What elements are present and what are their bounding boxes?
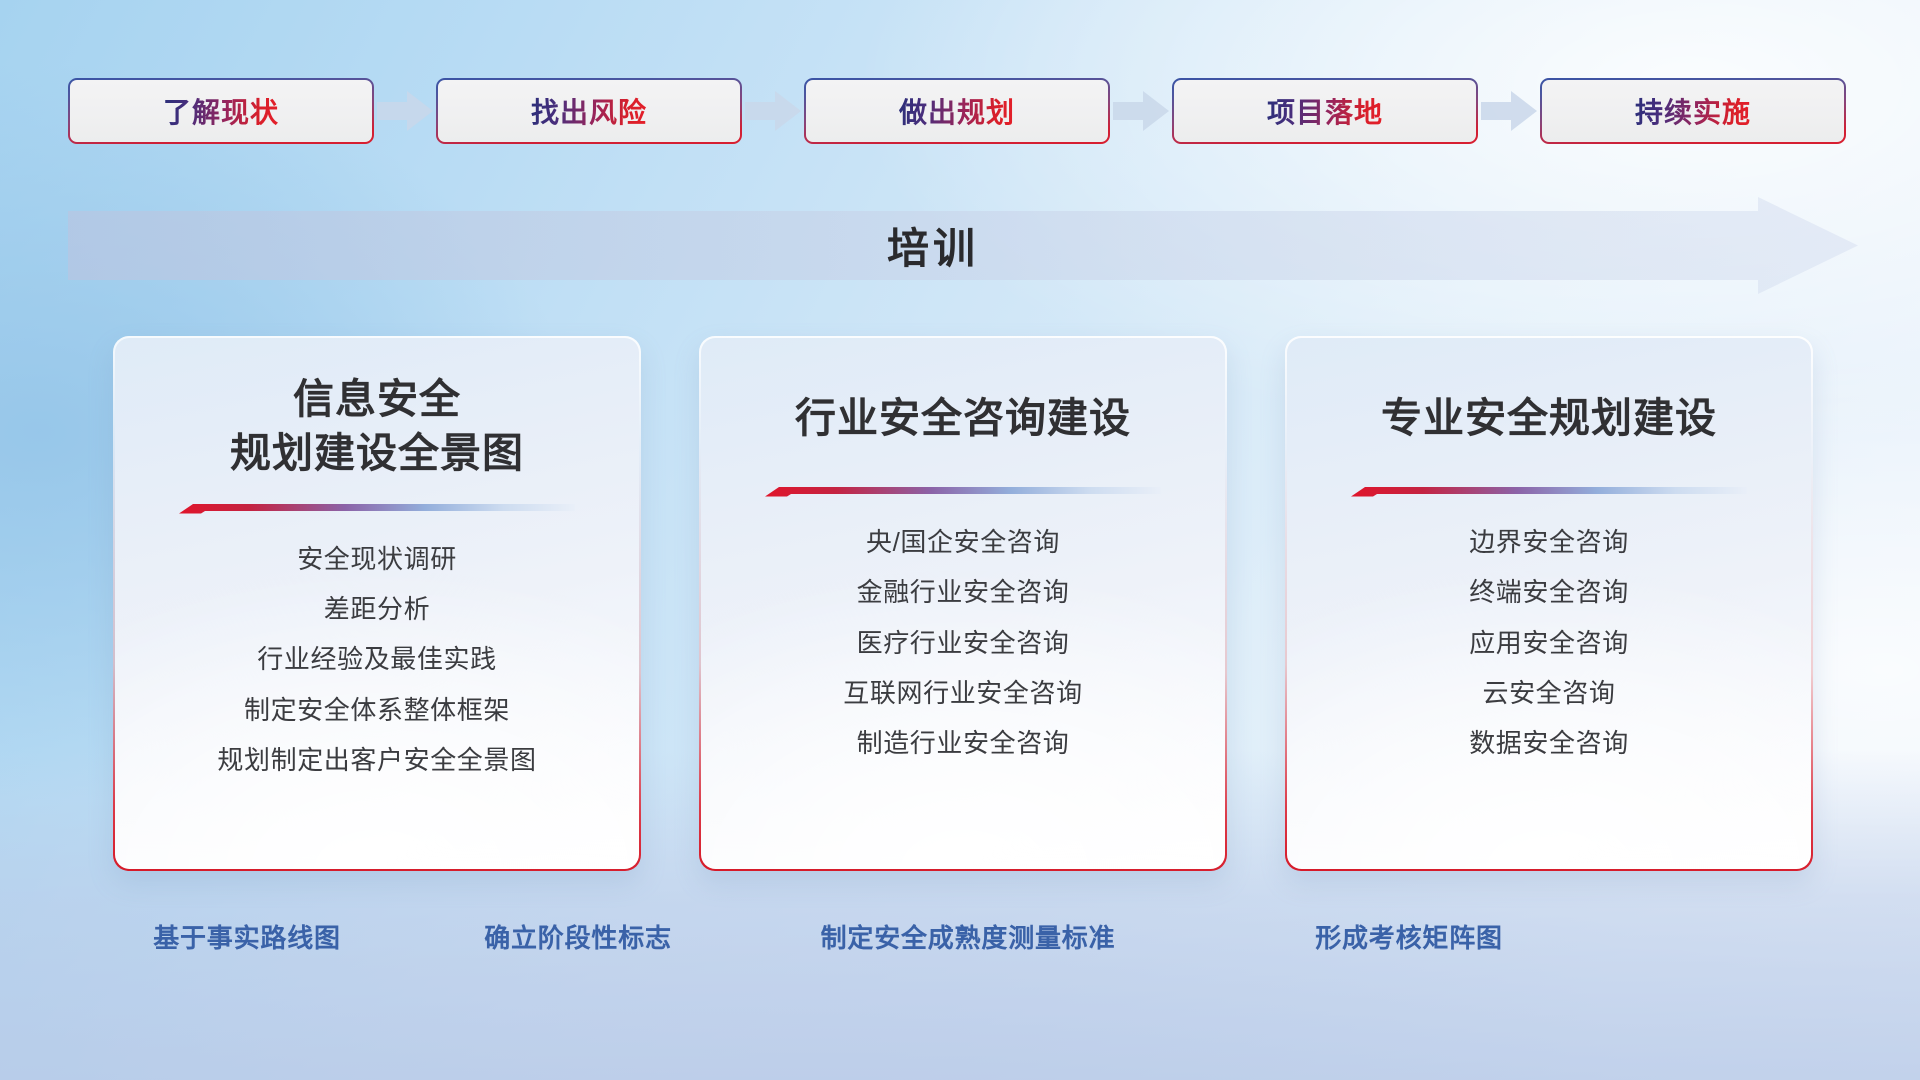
panel-2-list: 央/国企安全咨询 金融行业安全咨询 医疗行业安全咨询 互联网行业安全咨询 制造行… <box>701 522 1226 763</box>
arrow-right-icon-4 <box>1478 89 1540 133</box>
panel-2-body: 行业安全咨询建设 <box>701 338 1226 870</box>
process-steps: 了解现状 找出风险 做出规划 项目落地 持续实施 <box>68 78 1858 144</box>
list-item: 终端安全咨询 <box>1469 572 1629 612</box>
step-label-5: 持续实施 <box>1635 91 1751 131</box>
step-chip-3-inner: 做出规划 <box>806 80 1108 142</box>
panels-row: 信息安全 规划建设全景图 <box>113 336 1813 871</box>
panel-3-border: 专业安全规划建设 <box>1285 336 1813 871</box>
arrow-right-icon-2 <box>742 89 804 133</box>
list-item: 互联网行业安全咨询 <box>843 673 1082 713</box>
list-item: 安全现状调研 <box>297 539 457 579</box>
step-label-4: 项目落地 <box>1267 91 1383 131</box>
footnotes-row: 基于事实路线图 确立阶段性标志 制定安全成熟度测量标准 形成考核矩阵图 <box>0 918 1920 962</box>
panel-1-divider <box>179 503 575 514</box>
list-item: 央/国企安全咨询 <box>866 522 1060 562</box>
list-item: 规划制定出客户安全全景图 <box>217 740 536 780</box>
step-chip-1-inner: 了解现状 <box>70 80 372 142</box>
step-label-3: 做出规划 <box>899 91 1015 131</box>
panel-1-list: 安全现状调研 差距分析 行业经验及最佳实践 制定安全体系整体框架 规划制定出客户… <box>115 539 640 780</box>
panel-2[interactable]: 行业安全咨询建设 <box>699 336 1227 871</box>
arrow-right-icon-1 <box>374 89 436 133</box>
step-chip-1[interactable]: 了解现状 <box>68 78 374 144</box>
panel-1-border: 信息安全 规划建设全景图 <box>113 336 641 871</box>
list-item: 边界安全咨询 <box>1469 522 1629 562</box>
list-item: 制定安全体系整体框架 <box>244 690 510 730</box>
panel-3-list: 边界安全咨询 终端安全咨询 应用安全咨询 云安全咨询 数据安全咨询 <box>1287 522 1812 763</box>
list-item: 云安全咨询 <box>1482 673 1615 713</box>
panel-3-title: 专业安全规划建设 <box>1381 391 1717 446</box>
panel-2-title: 行业安全咨询建设 <box>795 391 1131 446</box>
step-chip-2[interactable]: 找出风险 <box>436 78 742 144</box>
list-item: 制造行业安全咨询 <box>857 723 1070 763</box>
panel-3-divider <box>1351 486 1747 497</box>
step-chip-5[interactable]: 持续实施 <box>1540 78 1846 144</box>
panel-1-body: 信息安全 规划建设全景图 <box>115 338 640 870</box>
step-chip-2-inner: 找出风险 <box>438 80 740 142</box>
step-label-2: 找出风险 <box>531 91 647 131</box>
panel-3-body: 专业安全规划建设 <box>1287 338 1812 870</box>
panel-2-divider <box>765 486 1161 497</box>
footnote-4: 形成考核矩阵图 <box>1315 918 1503 955</box>
list-item: 应用安全咨询 <box>1469 623 1629 663</box>
footnote-3: 制定安全成熟度测量标准 <box>821 918 1116 955</box>
arrow-right-icon-3 <box>1110 89 1172 133</box>
list-item: 医疗行业安全咨询 <box>857 623 1070 663</box>
step-chip-3[interactable]: 做出规划 <box>804 78 1110 144</box>
panel-1[interactable]: 信息安全 规划建设全景图 <box>113 336 641 871</box>
step-chip-5-inner: 持续实施 <box>1542 80 1844 142</box>
list-item: 数据安全咨询 <box>1469 723 1629 763</box>
list-item: 差距分析 <box>324 589 430 629</box>
step-label-1: 了解现状 <box>163 91 279 131</box>
banner-title: 培训 <box>68 197 1858 294</box>
panel-3[interactable]: 专业安全规划建设 <box>1285 336 1813 871</box>
panel-2-border: 行业安全咨询建设 <box>699 336 1227 871</box>
list-item: 行业经验及最佳实践 <box>257 639 496 679</box>
footnote-1: 基于事实路线图 <box>153 918 341 955</box>
training-banner: 培训 <box>68 197 1858 294</box>
panel-1-title: 信息安全 规划建设全景图 <box>230 372 524 481</box>
step-chip-4[interactable]: 项目落地 <box>1172 78 1478 144</box>
step-chip-4-inner: 项目落地 <box>1174 80 1476 142</box>
footnote-2: 确立阶段性标志 <box>484 918 672 955</box>
list-item: 金融行业安全咨询 <box>857 572 1070 612</box>
